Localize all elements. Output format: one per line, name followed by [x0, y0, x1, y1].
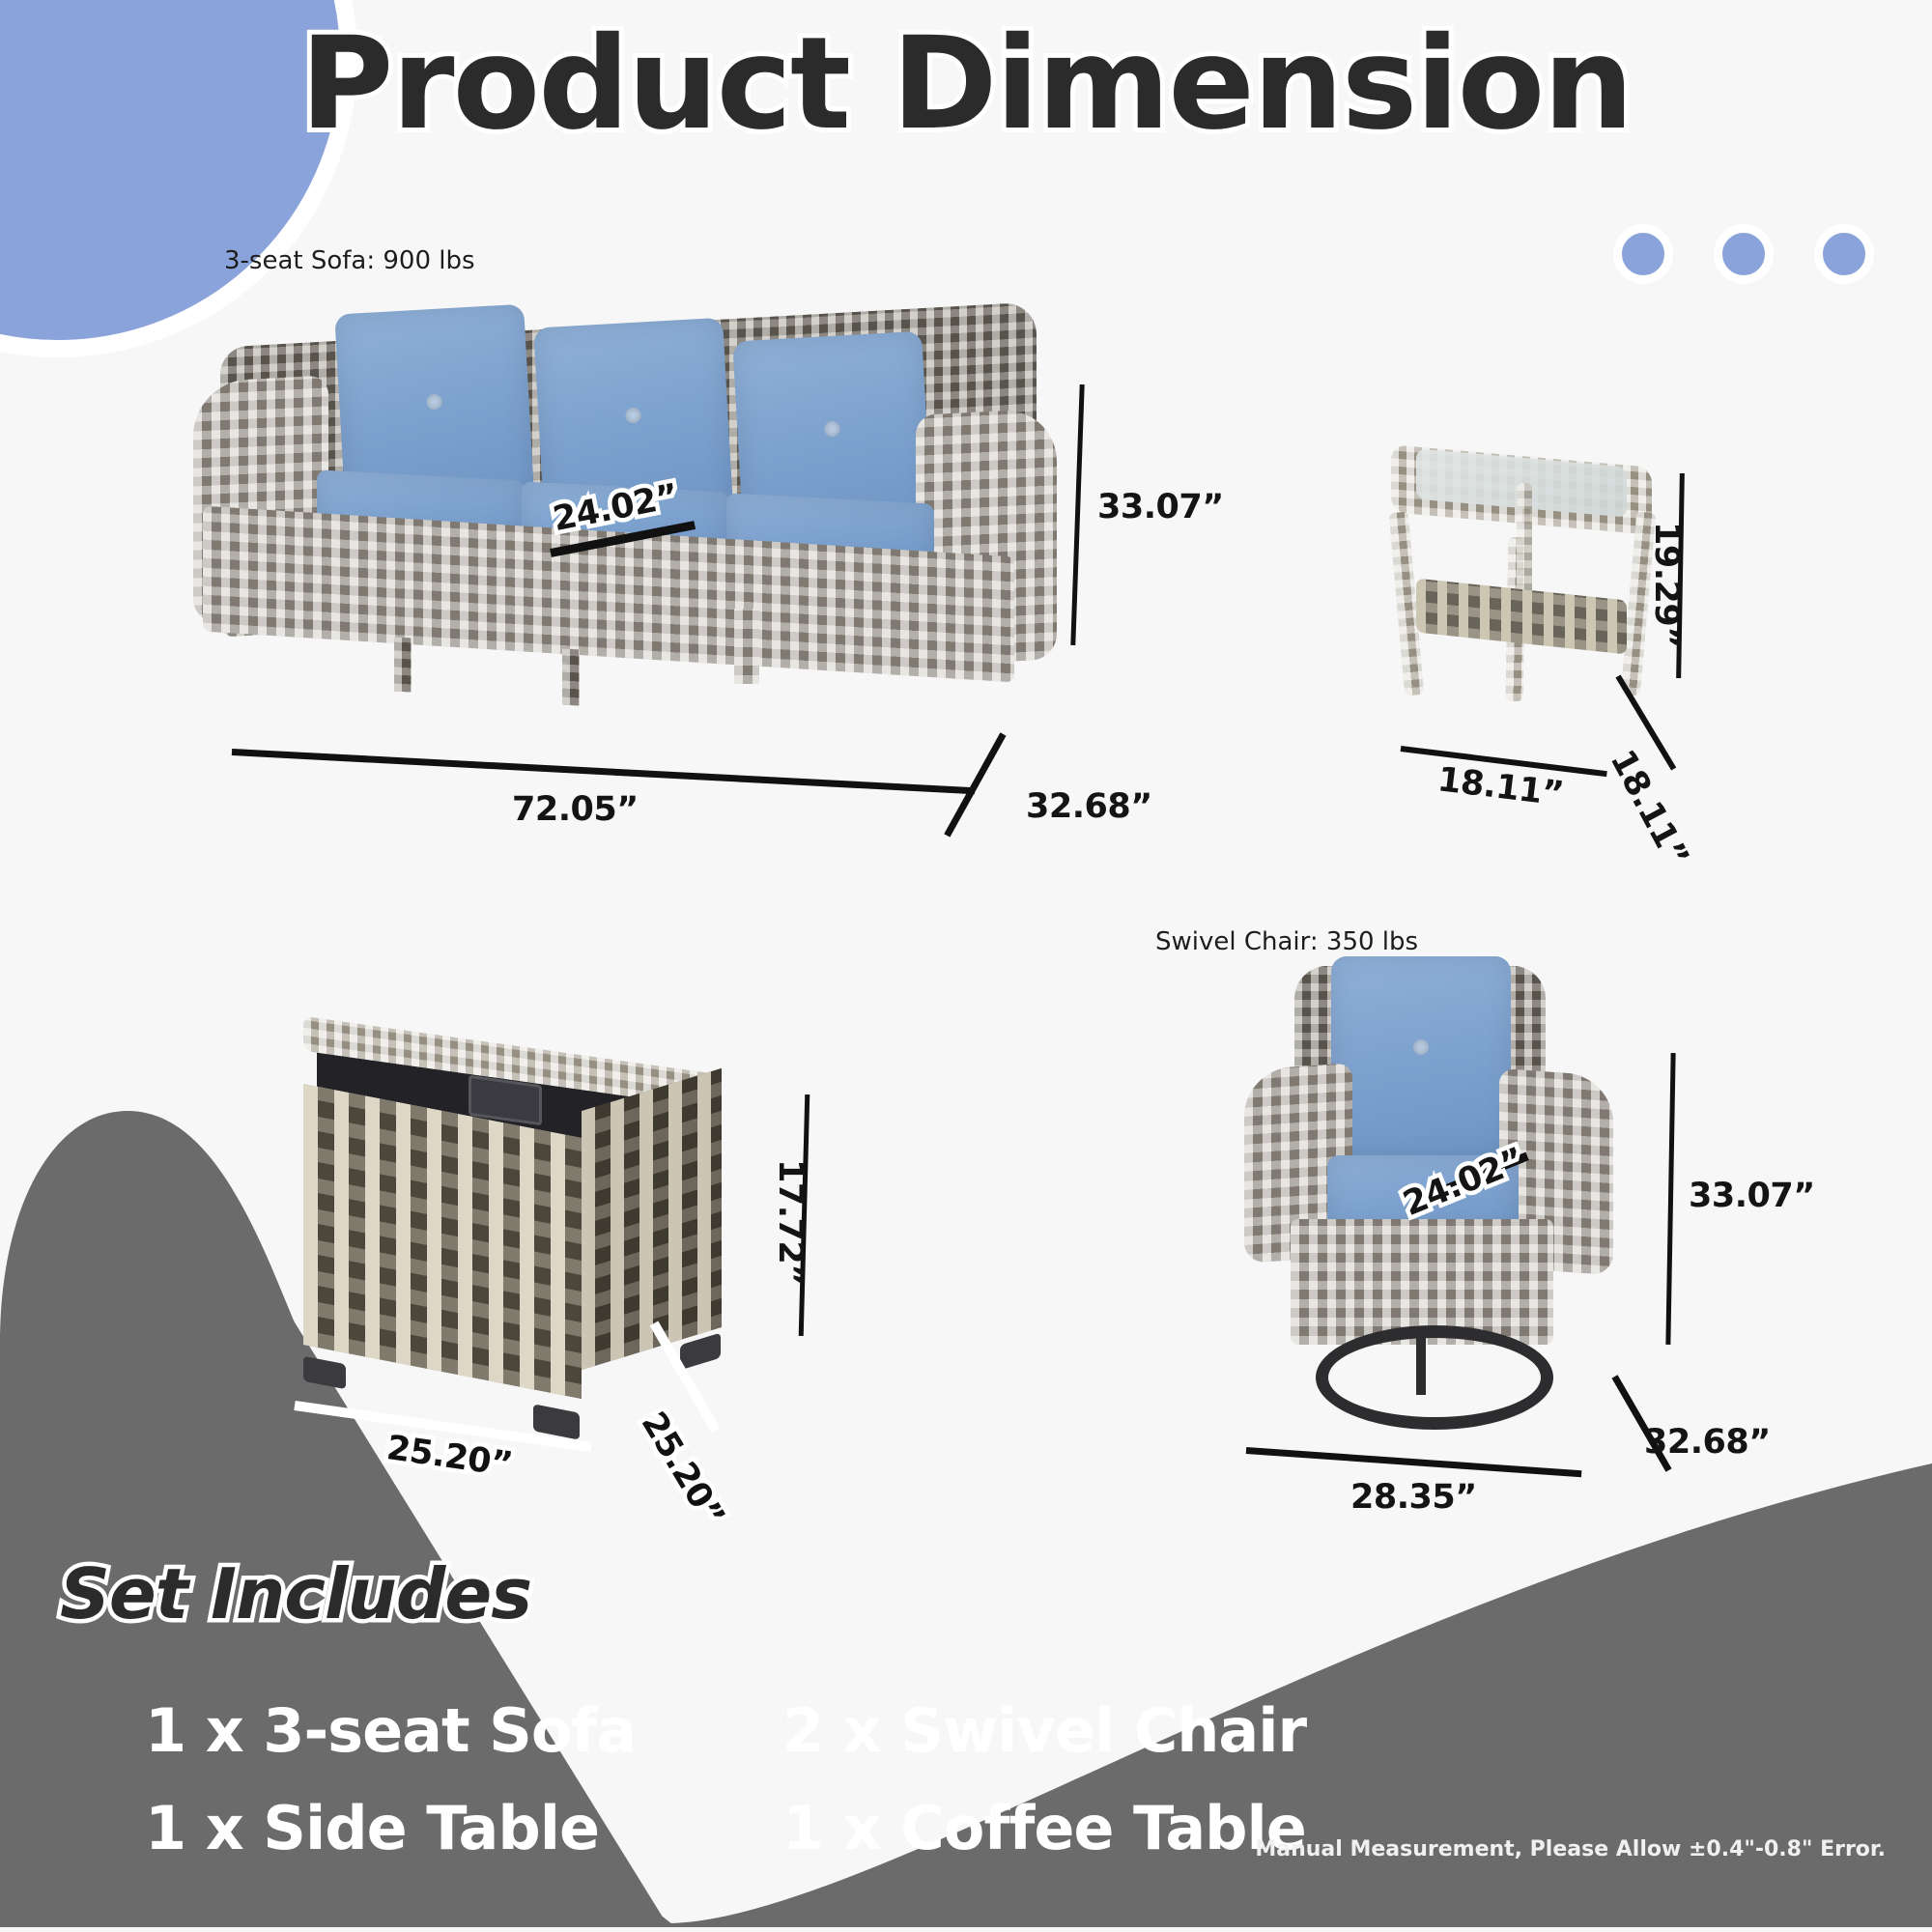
list-item: 1 x 3-seat Sofa — [145, 1695, 782, 1766]
sofa-height-label: 33.07” — [1097, 488, 1224, 526]
sofa-height-line — [1070, 384, 1084, 645]
set-includes-title: Set Includes — [60, 1553, 531, 1634]
chair-depth-label: 32.68” — [1644, 1423, 1771, 1462]
measurement-disclaimer: Manual Measurement, Please Allow ±0.4"-0… — [1255, 1837, 1886, 1861]
side-table-depth-label: 18.11” — [1603, 744, 1696, 873]
decorative-dots — [1613, 224, 1874, 284]
chair-width-label: 28.35” — [1350, 1478, 1477, 1517]
list-item: 1 x Side Table — [145, 1793, 782, 1863]
infographic-canvas: Product Dimension 3-seat Sofa: 900 lbs — [0, 0, 1932, 1932]
set-includes-list: 1 x 3-seat Sofa 2 x Swivel Chair 1 x Sid… — [145, 1695, 1401, 1863]
list-item: 2 x Swivel Chair — [782, 1695, 1420, 1766]
sofa-depth-label: 32.68” — [1026, 787, 1152, 826]
sofa-caption: 3-seat Sofa: 900 lbs — [224, 246, 475, 275]
side-table-height-label: 19.29” — [1647, 522, 1686, 648]
sofa-width-label: 72.05” — [512, 790, 639, 829]
chair-height-label: 33.07” — [1689, 1177, 1815, 1215]
page-title: Product Dimension — [0, 17, 1932, 152]
sofa-depth-line — [944, 732, 1006, 837]
dot-1-icon — [1613, 224, 1673, 284]
coffee-table-height-label: 17.72” — [771, 1159, 810, 1286]
swivel-chair-caption: Swivel Chair: 350 lbs — [1155, 927, 1418, 956]
dot-3-icon — [1814, 224, 1874, 284]
sofa-width-line — [232, 749, 975, 794]
dot-2-icon — [1714, 224, 1774, 284]
